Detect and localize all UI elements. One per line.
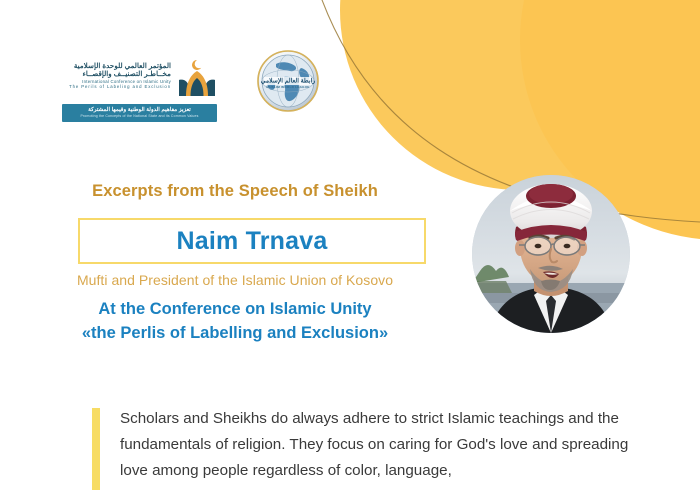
quote-accent-bar: [92, 408, 100, 490]
conference-logo-text: المؤتمر العالمي للوحدة الإسلامية مخــاطـ…: [69, 62, 171, 89]
conference-title-line-2: «the Perlis of Labelling and Exclusion»: [0, 324, 470, 343]
speaker-portrait-photo: [472, 175, 630, 333]
speaker-name-box: Naim Trnava: [78, 218, 426, 264]
globe-icon: رابطة العالم الإسلامي MUSLIM WORLD LEAGU…: [257, 50, 319, 112]
conference-logo-top: المؤتمر العالمي للوحدة الإسلامية مخــاطـ…: [62, 52, 217, 100]
quote-paragraph: Scholars and Sheikhs do always adhere to…: [120, 406, 640, 484]
conference-arabic-line-2: مخــاطـر التصنيــف والإقصــاء: [82, 70, 171, 78]
speaker-name: Naim Trnava: [177, 227, 328, 256]
mwl-english-text: MUSLIM WORLD LEAGUE: [266, 85, 309, 89]
decorative-circle-left: [340, 0, 700, 190]
speaker-role: Mufti and President of the Islamic Union…: [0, 272, 470, 288]
poster-canvas: المؤتمر العالمي للوحدة الإسلامية مخــاطـ…: [0, 0, 700, 490]
mwl-arabic-text: رابطة العالم الإسلامي: [261, 78, 316, 85]
banner-english-text: Promoting the Concepts of the National S…: [80, 114, 198, 118]
conference-title-line-1: At the Conference on Islamic Unity: [0, 300, 470, 319]
conference-tagline-banner: تعزيز مفاهيم الدولة الوطنية وقيمها المشت…: [62, 104, 217, 122]
portrait-circle-mask: [472, 175, 630, 333]
banner-arabic-text: تعزيز مفاهيم الدولة الوطنية وقيمها المشت…: [88, 107, 191, 113]
header-logos: المؤتمر العالمي للوحدة الإسلامية مخــاطـ…: [62, 52, 319, 122]
conference-english-line-2: The Perils of Labeling and Exclusion: [69, 85, 171, 90]
mosque-dome-crescent-icon: [177, 54, 217, 98]
speaker-portrait: [472, 175, 630, 333]
headline-kicker: Excerpts from the Speech of Sheikh: [0, 182, 470, 201]
conference-logo: المؤتمر العالمي للوحدة الإسلامية مخــاطـ…: [62, 52, 217, 122]
quote-body: Scholars and Sheikhs do always adhere to…: [120, 406, 640, 484]
